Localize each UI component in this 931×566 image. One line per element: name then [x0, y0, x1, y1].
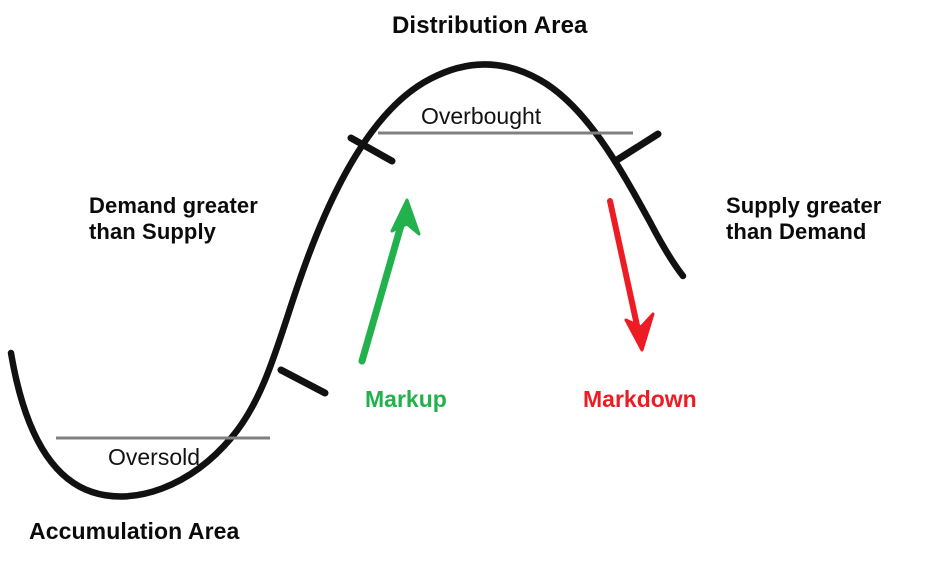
tick-cross-icon-accumulation: [281, 370, 325, 393]
down-arrow-icon-markdown: [610, 201, 653, 350]
page-title-distribution-area: Distribution Area: [392, 12, 588, 40]
zone-label-oversold: Oversold: [108, 444, 200, 471]
note-demand-greater-than-supply: Demand greater than Supply: [89, 193, 258, 245]
up-arrow-icon-markup: [362, 200, 419, 361]
note-supply-greater-than-demand: Supply greater than Demand: [726, 193, 881, 245]
diagram-canvas: [0, 0, 931, 566]
page-title-accumulation-area: Accumulation Area: [29, 518, 239, 545]
tick-cross-icon-distribution: [617, 134, 658, 160]
market-cycle-diagram: Distribution Area Accumulation Area Dema…: [0, 0, 931, 566]
phase-label-markdown: Markdown: [583, 386, 697, 413]
zone-label-overbought: Overbought: [421, 103, 541, 130]
phase-label-markup: Markup: [365, 386, 447, 413]
market-cycle-curve: [11, 64, 683, 496]
